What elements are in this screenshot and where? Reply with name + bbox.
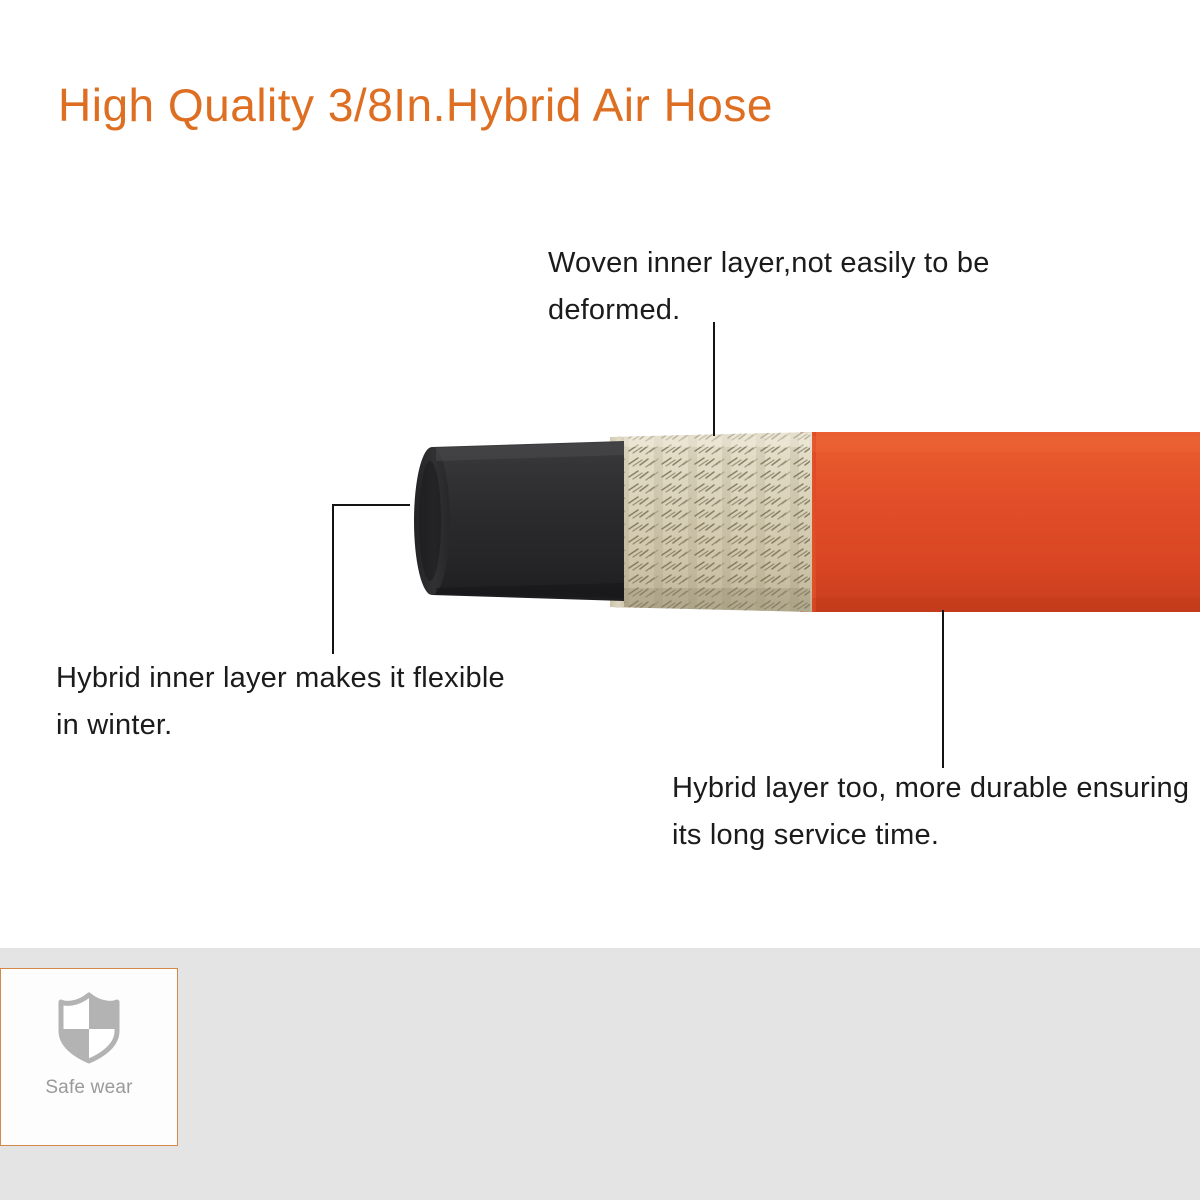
hose-layer-inner-tube xyxy=(414,441,624,601)
leader-line-hybrid-inner-vertical xyxy=(332,504,334,654)
leader-line-woven-inner xyxy=(713,322,715,436)
callout-hybrid-outer-layer: Hybrid layer too, more durable ensuring … xyxy=(672,765,1200,859)
feature-label-safe-wear: Safe wear xyxy=(5,1075,173,1100)
hose-layer-braid xyxy=(600,425,825,620)
leader-line-hybrid-outer xyxy=(942,610,944,768)
callout-woven-inner-layer: Woven inner layer,not easily to be defor… xyxy=(548,240,1108,334)
feature-card-safe-wear[interactable]: Safe wear xyxy=(0,968,178,1146)
callout-hybrid-inner-layer: Hybrid inner layer makes it flexible in … xyxy=(56,655,526,749)
feature-band xyxy=(0,948,1200,1200)
leader-line-hybrid-inner-horizontal xyxy=(332,504,410,506)
hose-layer-outer-cover xyxy=(800,432,1200,612)
shield-icon xyxy=(43,987,135,1069)
product-infographic: High Quality 3/8In.Hybrid Air Hose xyxy=(0,0,1200,1200)
